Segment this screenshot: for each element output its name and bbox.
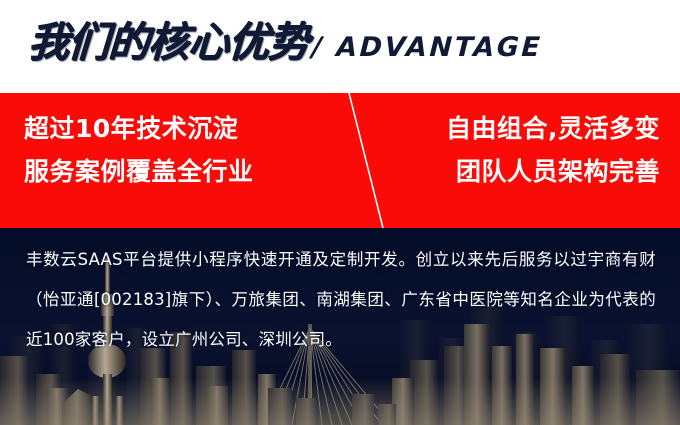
header-band: 我们的核心优势 / ADVANTAGE: [0, 0, 680, 93]
page-title: 我们的核心优势: [27, 22, 309, 63]
description-paragraph: 丰数云SAAS平台提供小程序快速开通及定制开发。创立以来先后服务以过宇商有财（怡…: [26, 240, 656, 360]
advantage-right-line-2: 团队人员架构完善: [456, 158, 660, 185]
advantage-section: 我们的核心优势 / ADVANTAGE 超过10年技术沉淀 服务案例覆盖全行业 …: [0, 0, 680, 425]
description-band: 丰数云SAAS平台提供小程序快速开通及定制开发。创立以来先后服务以过宇商有财（怡…: [0, 228, 680, 425]
page-title-english: / ADVANTAGE: [311, 34, 543, 61]
advantage-right-line-1: 自由组合,灵活多变: [446, 115, 660, 142]
advantage-column-left: 超过10年技术沉淀 服务案例覆盖全行业: [24, 115, 254, 185]
header-title-group: 我们的核心优势 / ADVANTAGE: [28, 22, 542, 63]
advantage-column-right: 自由组合,灵活多变 团队人员架构完善: [446, 115, 660, 185]
advantage-left-line-1: 超过10年技术沉淀: [24, 115, 238, 142]
advantage-banner: 超过10年技术沉淀 服务案例覆盖全行业 自由组合,灵活多变 团队人员架构完善: [0, 93, 680, 228]
advantage-left-line-2: 服务案例覆盖全行业: [24, 158, 254, 185]
